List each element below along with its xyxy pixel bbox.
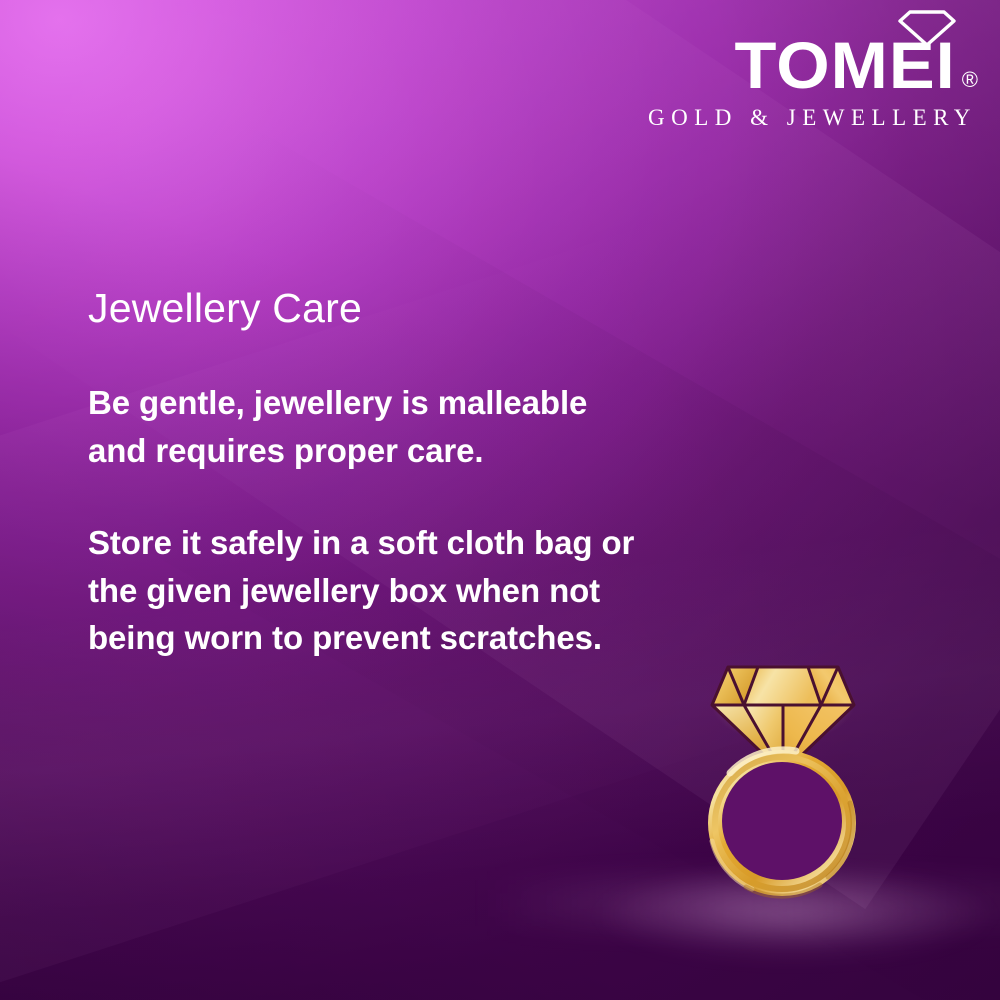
logo-wordmark: TOMEI <box>734 34 955 97</box>
diamond-ring-illustration <box>700 655 870 905</box>
registered-trademark-icon: ® <box>962 69 978 91</box>
jewellery-care-poster: TOMEI ® GOLD & JEWELLERY Jewellery Care … <box>0 0 1000 1000</box>
page-title: Jewellery Care <box>88 286 668 331</box>
ring-band-hole <box>722 762 842 880</box>
care-paragraph-1: Be gentle, jewellery is malleable and re… <box>88 379 648 475</box>
care-paragraph-2: Store it safely in a soft cloth bag or t… <box>88 519 648 663</box>
logo-tagline: GOLD & JEWELLERY <box>648 105 978 131</box>
logo-wordmark-row: TOMEI ® <box>648 34 978 97</box>
text-content-block: Jewellery Care Be gentle, jewellery is m… <box>88 286 668 662</box>
tomei-logo: TOMEI ® GOLD & JEWELLERY <box>648 8 978 131</box>
ring-band <box>708 750 856 896</box>
